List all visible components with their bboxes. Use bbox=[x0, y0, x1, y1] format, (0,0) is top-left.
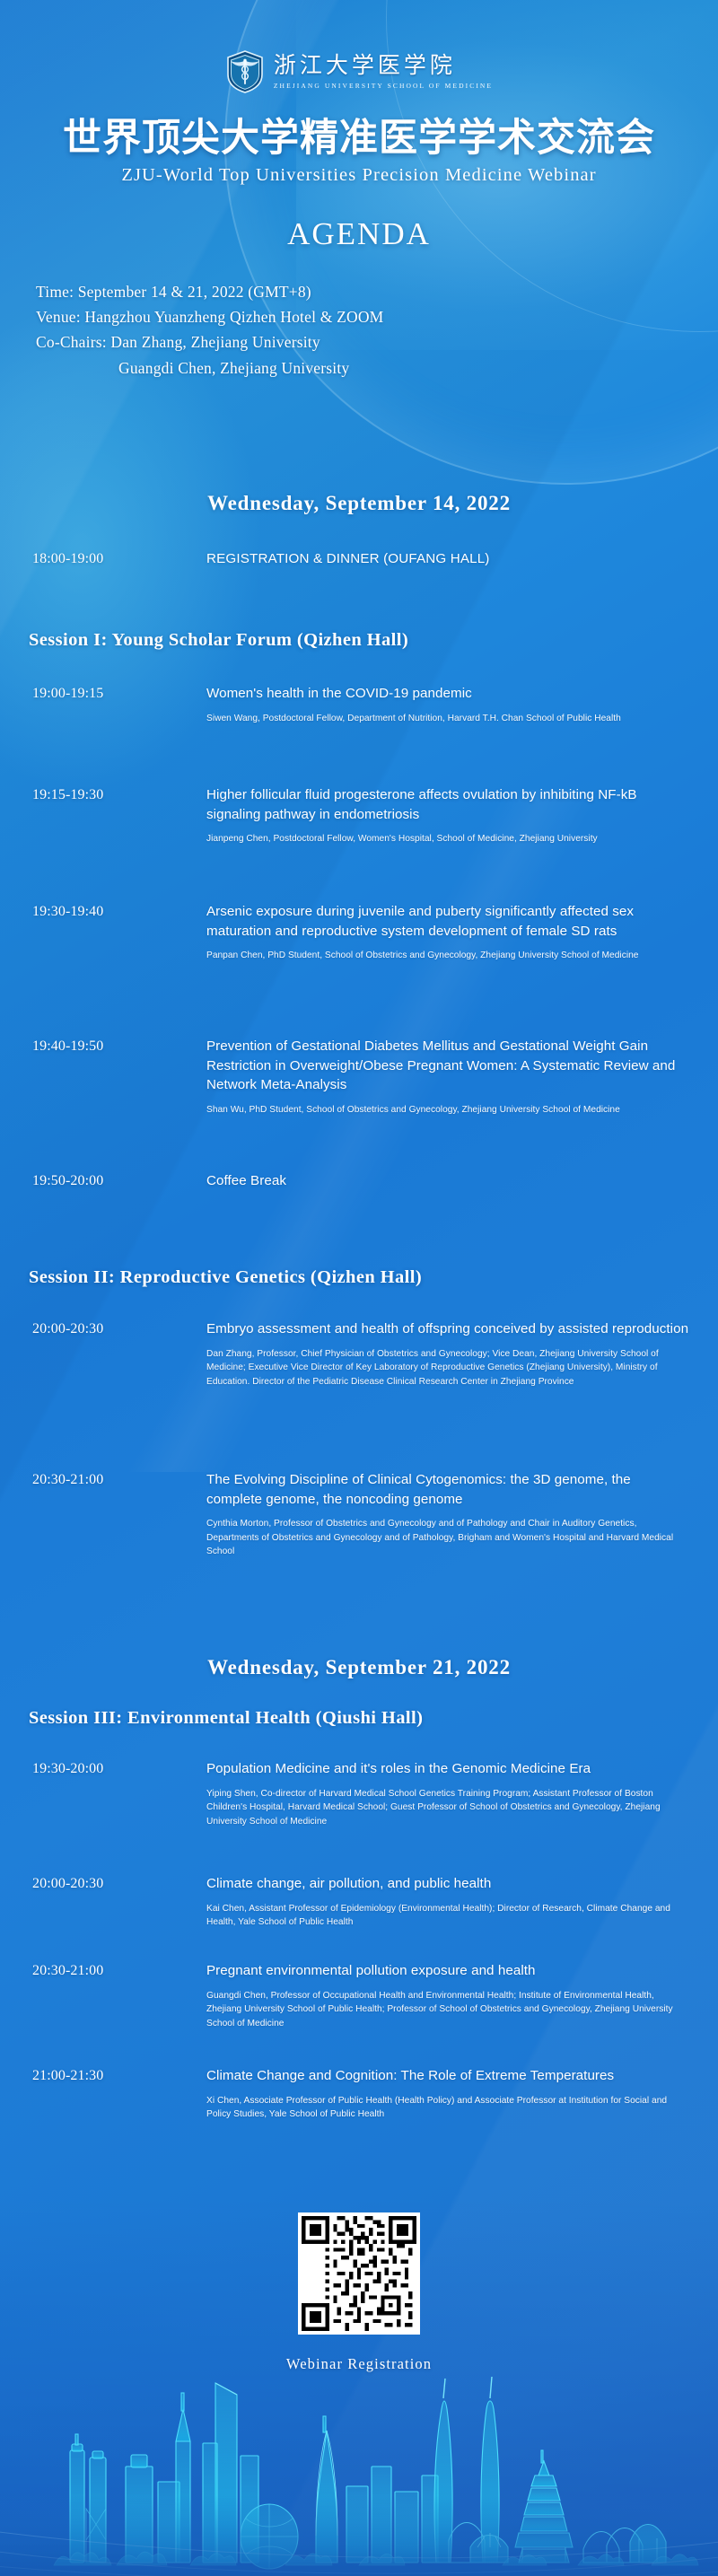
row-speaker: Dan Zhang, Professor, Chief Physician of… bbox=[206, 1347, 689, 1389]
row-title: Higher follicular fluid progesterone aff… bbox=[206, 785, 689, 824]
row-time: 20:30-21:00 bbox=[32, 1470, 206, 1489]
session-heading-1: Session I: Young Scholar Forum (Qizhen H… bbox=[0, 630, 718, 651]
row-time: 21:00-21:30 bbox=[32, 2066, 206, 2085]
row-s1-3: 19:30-19:40 Arsenic exposure during juve… bbox=[0, 902, 718, 963]
poster-header: 浙江大学医学院 ZHEJIANG UNIVERSITY SCHOOL OF ME… bbox=[0, 0, 718, 381]
row-speaker: Jianpeng Chen, Postdoctoral Fellow, Wome… bbox=[206, 832, 689, 846]
row-time: 20:00-20:30 bbox=[32, 1319, 206, 1338]
row-speaker: Guangdi Chen, Professor of Occupational … bbox=[206, 1989, 689, 2031]
row-s1-1: 19:00-19:15 Women's health in the COVID-… bbox=[0, 684, 718, 725]
row-time: 19:30-20:00 bbox=[32, 1759, 206, 1778]
row-body: REGISTRATION & DINNER (OUFANG HALL) bbox=[206, 549, 689, 569]
qr-caption: Webinar Registration bbox=[0, 2355, 718, 2373]
session-heading-2: Session II: Reproductive Genetics (Qizhe… bbox=[0, 1267, 718, 1288]
row-body: The Evolving Discipline of Clinical Cyto… bbox=[206, 1470, 689, 1559]
row-body: Pregnant environmental pollution exposur… bbox=[206, 1961, 689, 2030]
table-row: 19:30-20:00 Population Medicine and it's… bbox=[0, 1759, 718, 1828]
table-row: 18:00-19:00 REGISTRATION & DINNER (OUFAN… bbox=[0, 549, 718, 569]
row-body: Embryo assessment and health of offsprin… bbox=[206, 1319, 689, 1389]
page-title-chinese: 世界顶尖大学精准医学学术交流会 bbox=[0, 118, 718, 159]
agenda-label: AGENDA bbox=[0, 216, 718, 252]
row-s2-1: 20:00-20:30 Embryo assessment and health… bbox=[0, 1319, 718, 1389]
logo-chinese-name: 浙江大学医学院 bbox=[274, 55, 493, 77]
row-body: Coffee Break bbox=[206, 1171, 689, 1191]
session-3-heading-wrap: Session III: Environmental Health (Qiush… bbox=[0, 1708, 718, 1729]
event-cochairs-1: Co-Chairs: Dan Zhang, Zhejiang Universit… bbox=[36, 329, 718, 355]
row-s2-2: 20:30-21:00 The Evolving Discipline of C… bbox=[0, 1470, 718, 1559]
row-time: 19:15-19:30 bbox=[32, 785, 206, 804]
event-venue: Venue: Hangzhou Yuanzheng Qizhen Hotel &… bbox=[36, 304, 718, 329]
registration-block: Webinar Registration bbox=[0, 2212, 718, 2373]
poster-background bbox=[0, 0, 718, 2576]
row-body: Climate change, air pollution, and publi… bbox=[206, 1874, 689, 1930]
row-time: 19:00-19:15 bbox=[32, 684, 206, 703]
event-time: Time: September 14 & 21, 2022 (GMT+8) bbox=[36, 279, 718, 304]
row-speaker: Shan Wu, PhD Student, School of Obstetri… bbox=[206, 1103, 689, 1117]
row-body: Women's health in the COVID-19 pandemic … bbox=[206, 684, 689, 725]
session-heading-3: Session III: Environmental Health (Qiush… bbox=[0, 1708, 718, 1729]
row-time: 19:30-19:40 bbox=[32, 902, 206, 921]
row-time: 19:50-20:00 bbox=[32, 1171, 206, 1190]
row-speaker: Siwen Wang, Postdoctoral Fellow, Departm… bbox=[206, 712, 689, 726]
university-logo: 浙江大学医学院 ZHEJIANG UNIVERSITY SCHOOL OF ME… bbox=[0, 0, 718, 93]
row-title: Embryo assessment and health of offsprin… bbox=[206, 1319, 689, 1339]
row-title: Women's health in the COVID-19 pandemic bbox=[206, 684, 689, 704]
event-meta: Time: September 14 & 21, 2022 (GMT+8) Ve… bbox=[0, 279, 718, 381]
row-s3-2: 20:00-20:30 Climate change, air pollutio… bbox=[0, 1874, 718, 1930]
day-heading-1: Wednesday, September 14, 2022 bbox=[0, 492, 718, 515]
table-row: 20:00-20:30 Climate change, air pollutio… bbox=[0, 1874, 718, 1930]
row-s3-1: 19:30-20:00 Population Medicine and it's… bbox=[0, 1759, 718, 1828]
logo-text-block: 浙江大学医学院 ZHEJIANG UNIVERSITY SCHOOL OF ME… bbox=[274, 55, 493, 90]
table-row: 19:40-19:50 Prevention of Gestational Di… bbox=[0, 1037, 718, 1117]
table-row: 20:00-20:30 Embryo assessment and health… bbox=[0, 1319, 718, 1389]
qr-code[interactable] bbox=[298, 2212, 420, 2335]
row-time: 18:00-19:00 bbox=[32, 549, 206, 568]
row-title: Coffee Break bbox=[206, 1171, 689, 1191]
table-row: 20:30-21:00 The Evolving Discipline of C… bbox=[0, 1470, 718, 1559]
table-row: 21:00-21:30 Climate Change and Cognition… bbox=[0, 2066, 718, 2122]
row-speaker: Xi Chen, Associate Professor of Public H… bbox=[206, 2094, 689, 2122]
table-row: 20:30-21:00 Pregnant environmental pollu… bbox=[0, 1961, 718, 2030]
day-heading-2: Wednesday, September 21, 2022 bbox=[0, 1656, 718, 1679]
row-title: REGISTRATION & DINNER (OUFANG HALL) bbox=[206, 549, 689, 569]
row-title: The Evolving Discipline of Clinical Cyto… bbox=[206, 1470, 689, 1509]
row-body: Higher follicular fluid progesterone aff… bbox=[206, 785, 689, 846]
caduceus-icon bbox=[225, 50, 265, 93]
logo-english-name: ZHEJIANG UNIVERSITY SCHOOL OF MEDICINE bbox=[274, 83, 493, 90]
row-time: 19:40-19:50 bbox=[32, 1037, 206, 1056]
table-row: 19:30-19:40 Arsenic exposure during juve… bbox=[0, 902, 718, 963]
row-speaker: Yiping Shen, Co-director of Harvard Medi… bbox=[206, 1787, 689, 1829]
day-2-heading-wrap: Wednesday, September 21, 2022 bbox=[0, 1656, 718, 1679]
row-title: Climate change, air pollution, and publi… bbox=[206, 1874, 689, 1894]
row-speaker: Panpan Chen, PhD Student, School of Obst… bbox=[206, 949, 689, 963]
row-body: Prevention of Gestational Diabetes Melli… bbox=[206, 1037, 689, 1117]
row-s1-4: 19:40-19:50 Prevention of Gestational Di… bbox=[0, 1037, 718, 1117]
event-cochairs-2: Guangdi Chen, Zhejiang University bbox=[36, 355, 718, 381]
row-body: Arsenic exposure during juvenile and pub… bbox=[206, 902, 689, 963]
row-speaker: Cynthia Morton, Professor of Obstetrics … bbox=[206, 1517, 689, 1559]
row-speaker: Kai Chen, Assistant Professor of Epidemi… bbox=[206, 1902, 689, 1930]
row-s1-5: 19:50-20:00 Coffee Break bbox=[0, 1171, 718, 1191]
table-row: 19:15-19:30 Higher follicular fluid prog… bbox=[0, 785, 718, 846]
row-time: 20:30-21:00 bbox=[32, 1961, 206, 1980]
session-1-heading-wrap: Session I: Young Scholar Forum (Qizhen H… bbox=[0, 630, 718, 651]
row-title: Prevention of Gestational Diabetes Melli… bbox=[206, 1037, 689, 1095]
day-1-heading-wrap: Wednesday, September 14, 2022 bbox=[0, 492, 718, 515]
row-body: Climate Change and Cognition: The Role o… bbox=[206, 2066, 689, 2122]
table-row: 19:00-19:15 Women's health in the COVID-… bbox=[0, 684, 718, 725]
row-s3-3: 20:30-21:00 Pregnant environmental pollu… bbox=[0, 1961, 718, 2030]
row-s1-2: 19:15-19:30 Higher follicular fluid prog… bbox=[0, 785, 718, 846]
row-time: 20:00-20:30 bbox=[32, 1874, 206, 1893]
table-row: 19:50-20:00 Coffee Break bbox=[0, 1171, 718, 1191]
session-2-heading-wrap: Session II: Reproductive Genetics (Qizhe… bbox=[0, 1267, 718, 1288]
row-title: Arsenic exposure during juvenile and pub… bbox=[206, 902, 689, 941]
row-registration: 18:00-19:00 REGISTRATION & DINNER (OUFAN… bbox=[0, 549, 718, 569]
row-title: Population Medicine and it's roles in th… bbox=[206, 1759, 689, 1779]
page-title-english: ZJU-World Top Universities Precision Med… bbox=[0, 165, 718, 186]
row-title: Pregnant environmental pollution exposur… bbox=[206, 1961, 689, 1981]
row-body: Population Medicine and it's roles in th… bbox=[206, 1759, 689, 1828]
row-s3-4: 21:00-21:30 Climate Change and Cognition… bbox=[0, 2066, 718, 2122]
row-title: Climate Change and Cognition: The Role o… bbox=[206, 2066, 689, 2086]
